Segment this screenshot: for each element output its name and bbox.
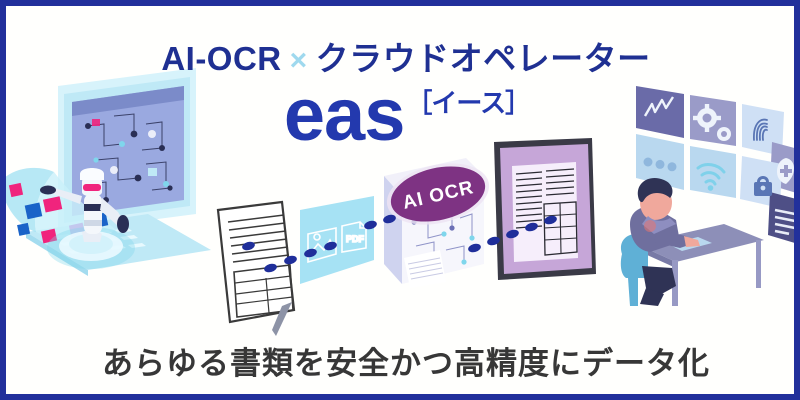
svg-text:PDF: PDF	[346, 234, 365, 244]
logo-reading: ［イース］	[406, 88, 530, 118]
headline-left: AI-OCR	[161, 40, 281, 77]
tagline: あらゆる書類を安全かつ高精度にデータ化	[6, 338, 800, 383]
banner-root: PDF	[0, 0, 800, 400]
logo-name: eas	[284, 73, 404, 156]
cloud-operator-at-desk	[606, 148, 766, 308]
headline-right: クラウドオペレーター	[316, 40, 651, 77]
logo-lockup: eas［イース］	[6, 78, 800, 152]
